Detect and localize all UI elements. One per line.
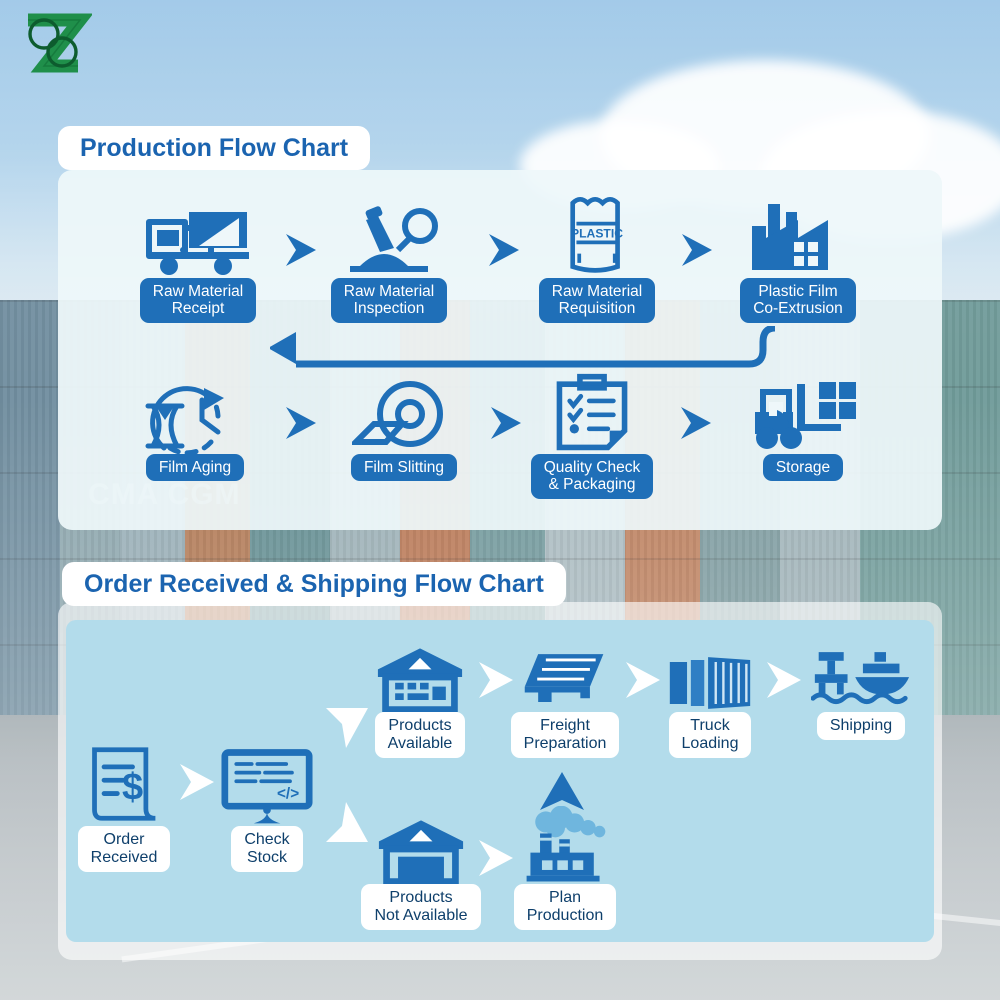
node-label: Storage (763, 454, 843, 481)
hourglass-clock-icon (140, 376, 250, 454)
pallet-icon (519, 642, 611, 712)
node-quality-check-packaging[interactable]: Quality Check & Packaging (527, 372, 657, 499)
node-label: Raw Material Requisition (539, 278, 655, 323)
flow-arrow-icon (489, 405, 523, 446)
invoice-dollar-icon: $ (85, 742, 163, 826)
node-label: Freight Preparation (511, 712, 620, 758)
node-truck-loading[interactable]: Truck Loading (663, 642, 757, 758)
node-label: Order Received (78, 826, 171, 872)
clipboard-checklist-icon (552, 372, 632, 454)
flow-arrow-icon (477, 838, 515, 883)
node-label: Plan Production (514, 884, 617, 930)
film-roll-icon (352, 376, 456, 454)
forklift-icon (747, 376, 859, 454)
node-film-slitting[interactable]: Film Slitting (339, 376, 469, 481)
node-label: Quality Check & Packaging (531, 454, 653, 499)
warehouse-open-icon (376, 640, 464, 712)
monitor-code-icon: </> (221, 742, 313, 826)
microscope-magnifier-icon (334, 196, 444, 278)
infographic-canvas: CMA CGM ex Production Flow Chart (0, 0, 1000, 1000)
svg-text:$: $ (122, 766, 143, 808)
node-check-stock[interactable]: </> Check Stock (219, 742, 315, 872)
flow-arrow-icon (477, 660, 515, 705)
bag-text: PLASTIC (571, 227, 623, 241)
company-logo[interactable] (14, 12, 92, 74)
node-label: Shipping (817, 712, 905, 740)
node-film-aging[interactable]: Film Aging (130, 376, 260, 481)
node-products-not-available[interactable]: Products Not Available (358, 808, 484, 930)
node-label: Check Stock (231, 826, 302, 872)
node-plan-production[interactable]: Plan Production (516, 806, 614, 930)
company-logo-green-s (28, 20, 80, 66)
flow-arrow-icon (765, 660, 803, 705)
node-order-received[interactable]: $ Order Received (76, 742, 172, 872)
node-label: Truck Loading (669, 712, 752, 758)
flow-arrow-icon (178, 762, 216, 807)
page-title-shipping: Order Received & Shipping Flow Chart (62, 562, 566, 606)
arrow-up-to-freight-preparation (539, 770, 585, 817)
node-label: Plastic Film Co-Extrusion (740, 278, 856, 323)
factory-icon (746, 196, 850, 278)
node-label: Products Not Available (361, 884, 480, 930)
node-shipping[interactable]: Shipping (808, 642, 914, 740)
branch-arrow-to-products-available (324, 706, 370, 755)
node-label: Products Available (375, 712, 466, 758)
node-plastic-film-coextrusion[interactable]: Plastic Film Co-Extrusion (733, 196, 863, 323)
delivery-truck-icon (143, 196, 253, 278)
node-label: Raw Material Receipt (140, 278, 256, 323)
flow-arrow-icon (284, 232, 318, 273)
page-title-production: Production Flow Chart (58, 126, 370, 170)
port-ship-icon (811, 642, 911, 712)
shipping-container-icon (666, 642, 754, 712)
flow-arrow-icon (679, 405, 713, 446)
flow-arrow-icon (624, 660, 662, 705)
warehouse-closed-icon (377, 808, 465, 884)
factory-smoke-icon (517, 806, 613, 884)
node-raw-material-receipt[interactable]: Raw Material Receipt (133, 196, 263, 323)
node-label: Film Slitting (351, 454, 457, 481)
node-raw-material-inspection[interactable]: Raw Material Inspection (324, 196, 454, 323)
flow-arrow-icon (284, 405, 318, 446)
flow-arrow-icon (680, 232, 714, 273)
node-raw-material-requisition[interactable]: PLASTIC Raw Material Requisition (532, 190, 662, 323)
node-storage[interactable]: Storage (738, 376, 868, 481)
node-freight-preparation[interactable]: Freight Preparation (514, 642, 616, 758)
svg-text:</>: </> (277, 786, 299, 803)
node-label: Film Aging (146, 454, 244, 481)
plastic-bag-icon: PLASTIC (554, 190, 640, 278)
flow-arrow-icon (487, 232, 521, 273)
node-label: Raw Material Inspection (331, 278, 447, 323)
node-products-available[interactable]: Products Available (368, 640, 472, 758)
